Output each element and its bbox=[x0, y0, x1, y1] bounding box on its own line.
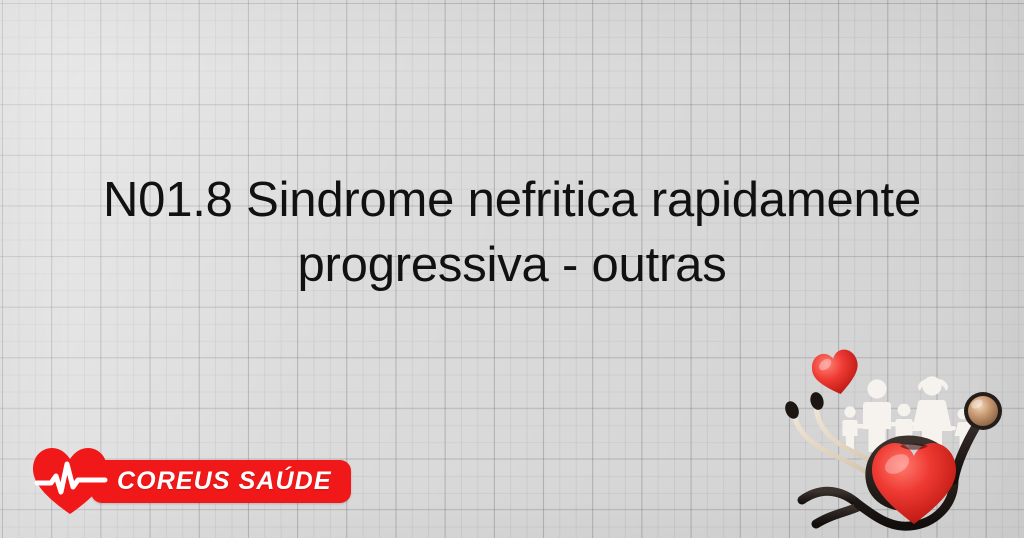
brand-name-pill: COREUS SAÚDE bbox=[91, 460, 351, 503]
page-title-line-2: progressiva - outras bbox=[16, 233, 1008, 298]
cid-info-card: N01.8 Sindrome nefritica rapidamente pro… bbox=[0, 0, 1024, 538]
page-title-line-1: N01.8 Sindrome nefritica rapidamente bbox=[16, 168, 1008, 233]
small-heart-icon bbox=[809, 348, 863, 399]
health-illustration bbox=[778, 348, 1024, 538]
brand-logo: COREUS SAÚDE bbox=[31, 446, 351, 516]
heart-ecg-icon bbox=[31, 446, 109, 516]
stethoscope-chestpiece-icon bbox=[964, 392, 1002, 430]
brand-name-label: COREUS SAÚDE bbox=[117, 467, 332, 496]
page-title: N01.8 Sindrome nefritica rapidamente pro… bbox=[0, 168, 1024, 298]
